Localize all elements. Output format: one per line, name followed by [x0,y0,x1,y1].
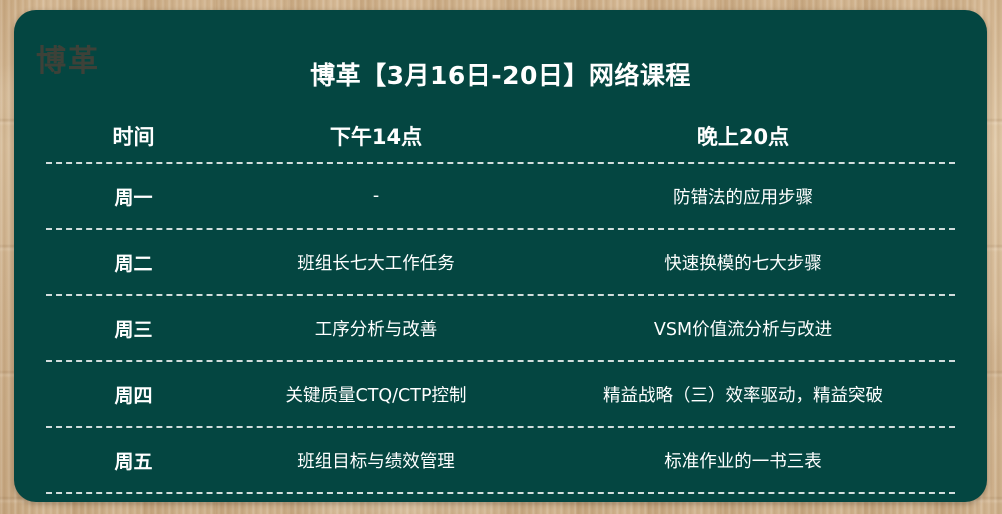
table-row: 周三 工序分析与改善 VSM价值流分析与改进 [46,296,955,360]
column-header-afternoon: 下午14点 [221,121,531,151]
row-divider [46,492,955,494]
table-row: 周五 班组目标与绩效管理 标准作业的一书三表 [46,428,955,492]
cell-day: 周二 [46,249,221,276]
table-header-row: 时间 下午14点 晚上20点 [46,110,955,162]
cell-afternoon-course: - [221,186,531,206]
cell-afternoon-course: 班组目标与绩效管理 [221,448,531,473]
cell-evening-course: 快速换模的七大步骤 [531,250,955,275]
cell-day: 周一 [46,183,221,210]
cell-evening-course: 防错法的应用步骤 [531,184,955,209]
table-row: 周一 - 防错法的应用步骤 [46,164,955,228]
wood-background: 博革 博革【3月16日-20日】网络课程 时间 下午14点 晚上20点 周一 -… [0,0,1002,514]
column-header-time: 时间 [46,121,221,151]
cell-day: 周四 [46,381,221,408]
cell-evening-course: 标准作业的一书三表 [531,448,955,473]
cell-afternoon-course: 关键质量CTQ/CTP控制 [221,382,531,407]
table-row: 周二 班组长七大工作任务 快速换模的七大步骤 [46,230,955,294]
cell-afternoon-course: 工序分析与改善 [221,316,531,341]
page-title: 博革【3月16日-20日】网络课程 [14,56,987,92]
schedule-card: 博革 博革【3月16日-20日】网络课程 时间 下午14点 晚上20点 周一 -… [14,10,987,502]
cell-day: 周三 [46,315,221,342]
table-row: 周四 关键质量CTQ/CTP控制 精益战略（三）效率驱动，精益突破 [46,362,955,426]
cell-afternoon-course: 班组长七大工作任务 [221,250,531,275]
cell-day: 周五 [46,447,221,474]
cell-evening-course: VSM价值流分析与改进 [531,316,955,341]
column-header-evening: 晚上20点 [531,121,955,151]
cell-evening-course: 精益战略（三）效率驱动，精益突破 [531,382,955,407]
schedule-table: 时间 下午14点 晚上20点 周一 - 防错法的应用步骤 周二 班组长七大工作任… [46,110,955,494]
